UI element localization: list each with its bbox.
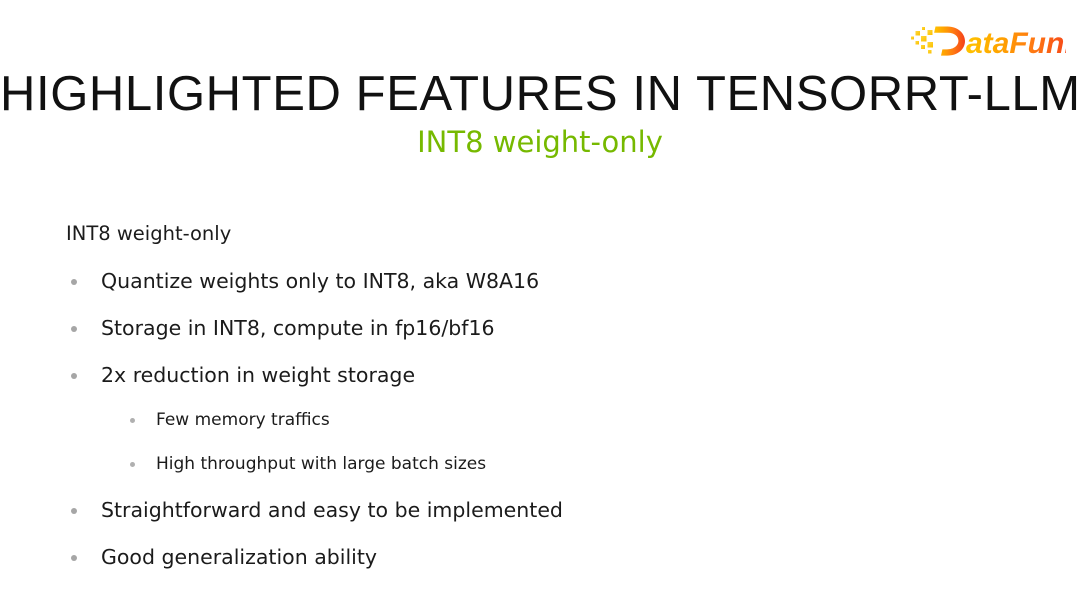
list-item: Straightforward and easy to be implement…: [66, 497, 1026, 524]
body-content: INT8 weight-only Quantize weights only t…: [66, 221, 1026, 571]
list-item-sub: Few memory traffics: [66, 409, 1026, 432]
list-item-label: Few memory traffics: [156, 410, 330, 430]
slide-canvas: ataFun. HIGHLIGHTED FEATURES IN TENSORRT…: [0, 0, 1080, 608]
list-item: Good generalization ability: [66, 544, 1026, 571]
list-item: Quantize weights only to INT8, aka W8A16: [66, 268, 1026, 295]
list-item-label: High throughput with large batch sizes: [156, 454, 486, 474]
bullet-dot-icon: [71, 279, 77, 285]
lead-line: INT8 weight-only: [66, 221, 1026, 247]
slide-title: HIGHLIGHTED FEATURES IN TENSORRT-LLM: [0, 66, 1080, 122]
bullet-dot-icon: [130, 462, 135, 467]
bullet-dot-icon: [71, 373, 77, 379]
list-item-label: Storage in INT8, compute in fp16/bf16: [101, 316, 495, 340]
logo-letter-d: [934, 27, 965, 56]
list-item-label: 2x reduction in weight storage: [101, 363, 415, 387]
list-item: 2x reduction in weight storage: [66, 362, 1026, 389]
bullet-dot-icon: [71, 508, 77, 514]
list-item: Storage in INT8, compute in fp16/bf16: [66, 315, 1026, 342]
list-item-sub: High throughput with large batch sizes: [66, 453, 1026, 476]
bullet-list: Quantize weights only to INT8, aka W8A16…: [66, 268, 1026, 571]
bullet-dot-icon: [71, 555, 77, 561]
list-item-label: Straightforward and easy to be implement…: [101, 498, 563, 522]
slide-subtitle: INT8 weight-only: [0, 125, 1080, 159]
list-item-label: Quantize weights only to INT8, aka W8A16: [101, 269, 539, 293]
bullet-dot-icon: [71, 326, 77, 332]
title-block: HIGHLIGHTED FEATURES IN TENSORRT-LLM INT…: [0, 66, 1080, 159]
logo-wordmark: ataFun.: [966, 27, 1066, 60]
bullet-dot-icon: [130, 418, 135, 423]
datafun-logo: ataFun.: [910, 19, 1066, 63]
logo-pixel-dots: [911, 27, 933, 54]
list-item-label: Good generalization ability: [101, 545, 377, 569]
